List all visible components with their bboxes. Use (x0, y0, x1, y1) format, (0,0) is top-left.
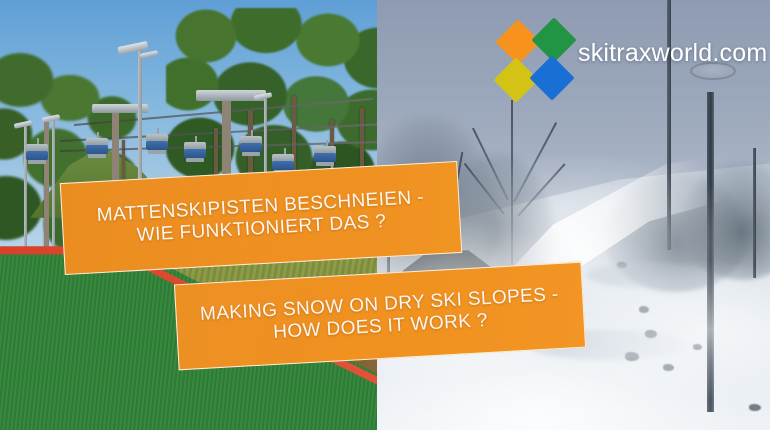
banner-german-text: MATTENSKIPISTEN BESCHNEIEN - WIE FUNKTIO… (82, 186, 440, 251)
floodlight-mast (52, 118, 55, 254)
banner-english-text: MAKING SNOW ON DRY SKI SLOPES - HOW DOES… (186, 283, 575, 349)
chairlift-seat (86, 132, 108, 160)
chairlift-seat (26, 138, 48, 166)
collage-canvas: skitraxworld.com MATTENSKIPISTEN BESCHNE… (0, 0, 770, 430)
chairlift-seat (240, 130, 262, 158)
skitraxworld-diamond-logo[interactable] (500, 22, 572, 98)
green-diamond-icon (531, 17, 576, 62)
blue-diamond-icon (529, 55, 574, 100)
chairlift-seat (146, 128, 168, 156)
chairlift-seat (184, 136, 206, 164)
brand-wordmark: skitraxworld.com (578, 39, 767, 68)
